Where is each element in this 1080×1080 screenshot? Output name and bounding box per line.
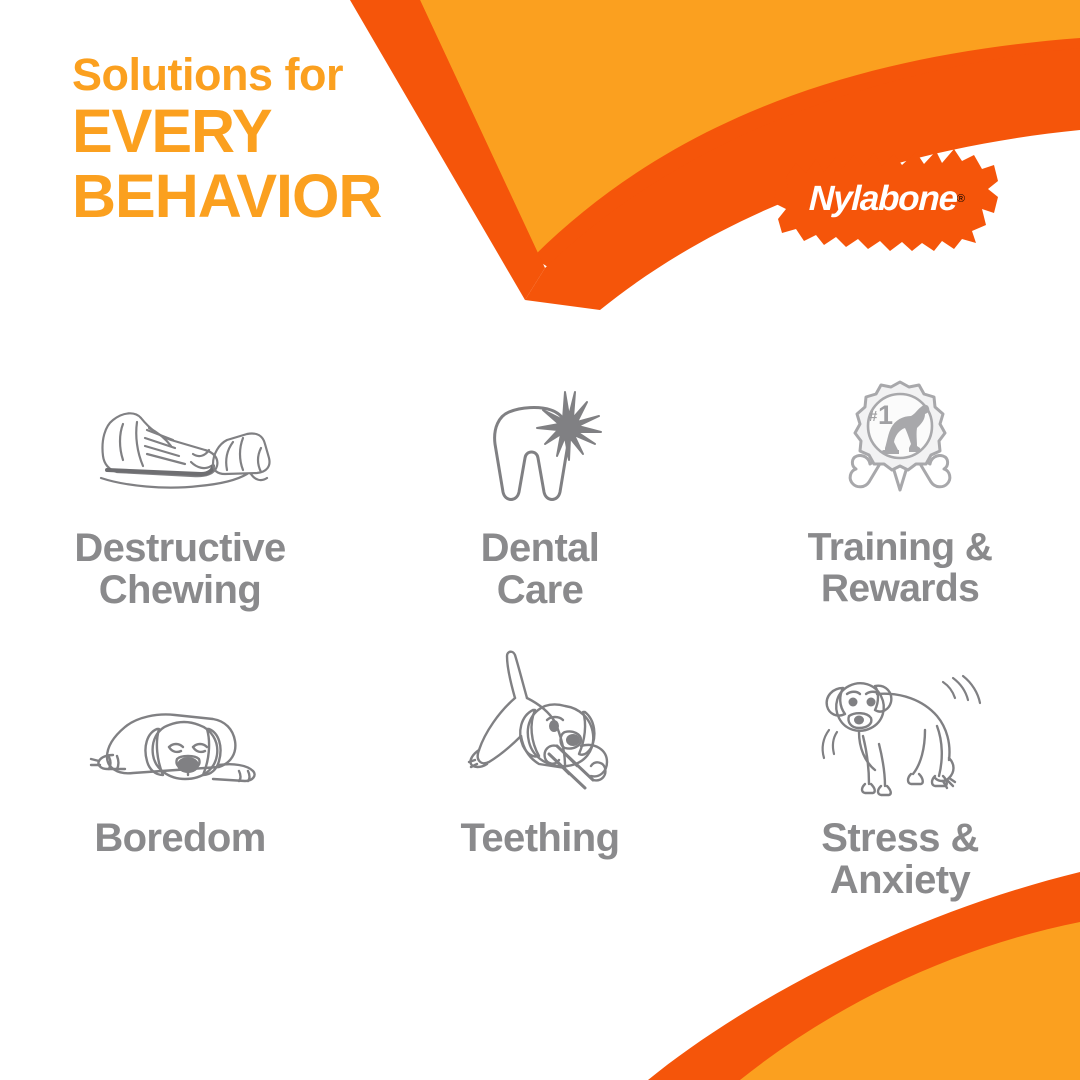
- puppy-chewing-toy-icon: [453, 668, 628, 800]
- first-place-rosette-dog-icon: # 1: [825, 378, 975, 510]
- trembling-anxious-dog-icon: [813, 668, 988, 800]
- behavior-label: Dental Care: [481, 528, 600, 611]
- behavior-label: Training & Rewards: [808, 528, 993, 609]
- svg-text:1: 1: [878, 400, 893, 430]
- badge-rank-text: #: [869, 408, 878, 425]
- behavior-label: Stress & Anxiety: [821, 818, 979, 901]
- behavior-label: Destructive Chewing: [74, 528, 285, 611]
- headline-line-1: Solutions for: [72, 52, 381, 97]
- headline-block: Solutions for EVERY BEHAVIOR: [72, 52, 381, 227]
- registered-trademark-icon: ®: [957, 193, 965, 205]
- behavior-item-boredom: Boredom: [0, 668, 360, 948]
- sparkling-tooth-icon: [465, 378, 615, 510]
- brand-name-text: Nylabone: [808, 179, 957, 219]
- top-swoosh-amber-left: [372, 0, 528, 218]
- behavior-label: Teething: [461, 818, 620, 860]
- poster-canvas: Solutions for EVERY BEHAVIOR Nylabone®: [0, 0, 1080, 1080]
- behavior-item-teething: Teething: [360, 668, 720, 948]
- headline-line-2: EVERY: [72, 101, 381, 162]
- headline-line-3: BEHAVIOR: [72, 166, 381, 227]
- brand-wordmark: Nylabone®: [766, 139, 1002, 259]
- chewed-shoe-icon: [75, 378, 285, 510]
- behavior-item-dental-care: Dental Care: [360, 378, 720, 668]
- behavior-item-training-rewards: # 1 Training & Rewards: [720, 378, 1080, 668]
- behavior-item-stress-anxiety: Stress & Anxiety: [720, 668, 1080, 948]
- behavior-item-destructive-chewing: Destructive Chewing: [0, 378, 360, 668]
- lying-bored-dog-icon: [73, 668, 288, 800]
- behavior-grid: Destructive Chewing Dental Care: [0, 378, 1080, 948]
- behavior-label: Boredom: [94, 818, 265, 860]
- nylabone-logo: Nylabone®: [766, 139, 1002, 259]
